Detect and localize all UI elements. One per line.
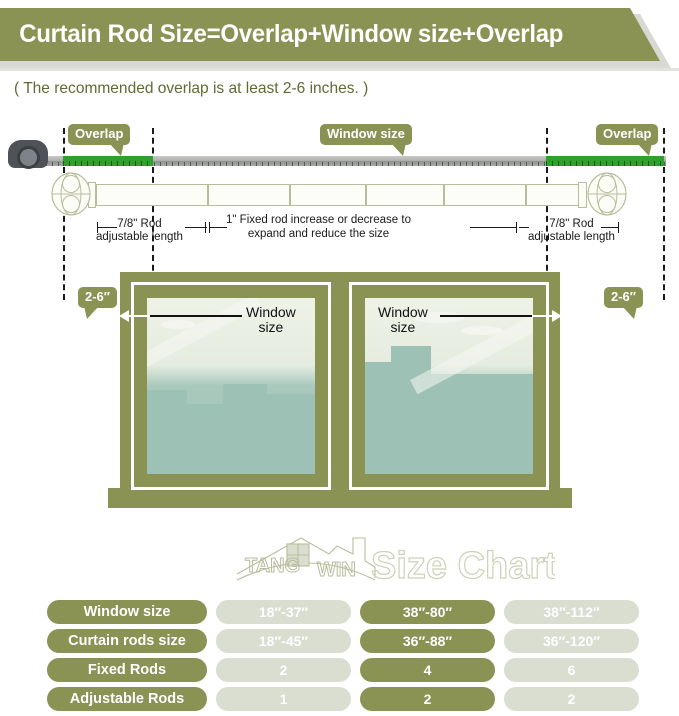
window-sill <box>108 488 572 508</box>
dimension-right-line1: 7/8" Rod <box>549 218 593 230</box>
table-cell: 38″-112″ <box>504 600 639 624</box>
table-cell: 6 <box>504 658 639 682</box>
table-cell: 18″-37″ <box>216 600 351 624</box>
size-chart-logo: TANG WIN Size Chart <box>225 526 555 588</box>
skyline-block <box>431 374 533 474</box>
callout-tail-icon <box>391 143 406 156</box>
rod-segment-2 <box>208 184 290 206</box>
sun-ray <box>147 298 262 376</box>
skyline-block <box>187 404 223 474</box>
badge-overlap-right-label: 2-6″ <box>611 289 636 304</box>
table-row-label: Fixed Rods <box>47 658 207 682</box>
table-cell: 2 <box>360 687 495 711</box>
guide-line-rod-right-end <box>663 128 665 300</box>
table-cell: 2 <box>504 687 639 711</box>
badge-overlap-right: 2-6″ <box>604 287 643 308</box>
window-size-label-left-line1: Window <box>246 304 296 320</box>
table-cell: 36″-120″ <box>504 629 639 653</box>
table-cell: 2 <box>216 658 351 682</box>
callout-overlap-left-label: Overlap <box>75 126 123 141</box>
size-chart-table: Window size 18″-37″ 38″-80″ 38″-112″ Cur… <box>47 600 639 711</box>
dimension-center-line1: 1" Fixed rod increase or decrease to <box>226 214 411 226</box>
logo-brand-left: TANG <box>245 555 300 577</box>
rod-finial-right-icon <box>586 171 628 217</box>
skyline-block <box>267 394 315 474</box>
measure-line-left-outer <box>128 315 150 317</box>
rod-segment-3 <box>290 184 366 206</box>
dim-rule-center-b <box>470 227 516 228</box>
tape-measure-case-icon <box>8 140 48 168</box>
table-row: Fixed Rods 2 4 6 <box>47 658 639 682</box>
callout-overlap-right-label: Overlap <box>603 126 651 141</box>
dim-rule-center-a <box>209 227 227 228</box>
window-size-label-right: Window size <box>378 305 428 336</box>
dim-tick-left-end <box>205 222 206 233</box>
tape-overlap-left-highlight <box>63 156 153 166</box>
window-size-label-left-line2: size <box>258 319 283 335</box>
table-row: Curtain rods size 18″-45″ 36″-88″ 36″-12… <box>47 629 639 653</box>
table-row: Window size 18″-37″ 38″-80″ 38″-112″ <box>47 600 639 624</box>
measure-line-right-inner <box>440 315 532 317</box>
rod-segment-4 <box>366 184 444 206</box>
badge-overlap-left-label: 2-6″ <box>85 289 110 304</box>
window-size-label-right-line1: Window <box>378 304 428 320</box>
badge-tail-icon <box>84 306 99 319</box>
subtitle-note: ( The recommended overlap is at least 2-… <box>14 80 368 98</box>
rod-finial-left-icon <box>50 171 92 217</box>
rod-segment-5 <box>444 184 526 206</box>
skyline-block <box>391 346 431 474</box>
callout-overlap-left: Overlap <box>68 124 130 145</box>
dimension-left-line1: 7/8" Rod <box>117 218 161 230</box>
table-row-label: Adjustable Rods <box>47 687 207 711</box>
table-cell: 18″-45″ <box>216 629 351 653</box>
table-cell: 36″-88″ <box>360 629 495 653</box>
badge-overlap-left: 2-6″ <box>78 287 117 308</box>
callout-window-size-label: Window size <box>327 126 405 141</box>
callout-window-size: Window size <box>320 124 412 145</box>
skyline-block <box>147 390 187 474</box>
banner-divider <box>0 68 679 71</box>
callout-tail-icon <box>109 143 124 156</box>
measure-arrow-right-outer <box>552 310 562 322</box>
dim-rule-left-b <box>185 227 207 228</box>
callout-overlap-right: Overlap <box>596 124 658 145</box>
table-row-label: Curtain rods size <box>47 629 207 653</box>
measure-line-right-outer <box>532 315 554 317</box>
dimension-center-line2: expand and reduce the size <box>248 228 389 240</box>
callout-tail-icon <box>637 143 652 156</box>
table-row: Adjustable Rods 1 2 2 <box>47 687 639 711</box>
dim-tick-center-end <box>516 222 517 233</box>
dimension-right: 7/8" Rod adjustable length <box>528 218 615 244</box>
page-title: Curtain Rod Size=Overlap+Window size+Ove… <box>0 20 563 49</box>
rod-segment-6 <box>526 184 582 206</box>
table-row-label: Window size <box>47 600 207 624</box>
dimension-left: 7/8" Rod adjustable length <box>96 218 183 244</box>
window-size-label-left: Window size <box>246 305 296 336</box>
table-cell: 1 <box>216 687 351 711</box>
skyline-block <box>223 384 267 474</box>
dimension-left-line2: adjustable length <box>96 231 183 243</box>
table-cell: 38″-80″ <box>360 600 495 624</box>
tape-overlap-right-highlight <box>546 156 664 166</box>
logo-brand-right: WIN <box>317 559 356 581</box>
measure-line-left-inner <box>150 315 242 317</box>
title-banner: Curtain Rod Size=Overlap+Window size+Ove… <box>0 8 679 70</box>
dim-tick-right-end <box>618 222 619 233</box>
logo-title: Size Chart <box>371 545 555 587</box>
table-cell: 4 <box>360 658 495 682</box>
badge-tail-icon <box>622 306 637 319</box>
window-size-label-right-line2: size <box>390 319 415 335</box>
rod-segment-1 <box>96 184 208 206</box>
dimension-right-line2: adjustable length <box>528 231 615 243</box>
dimension-center: 1" Fixed rod increase or decrease to exp… <box>226 213 411 242</box>
banner-body: Curtain Rod Size=Overlap+Window size+Ove… <box>0 8 660 61</box>
skyline-block <box>365 362 391 474</box>
